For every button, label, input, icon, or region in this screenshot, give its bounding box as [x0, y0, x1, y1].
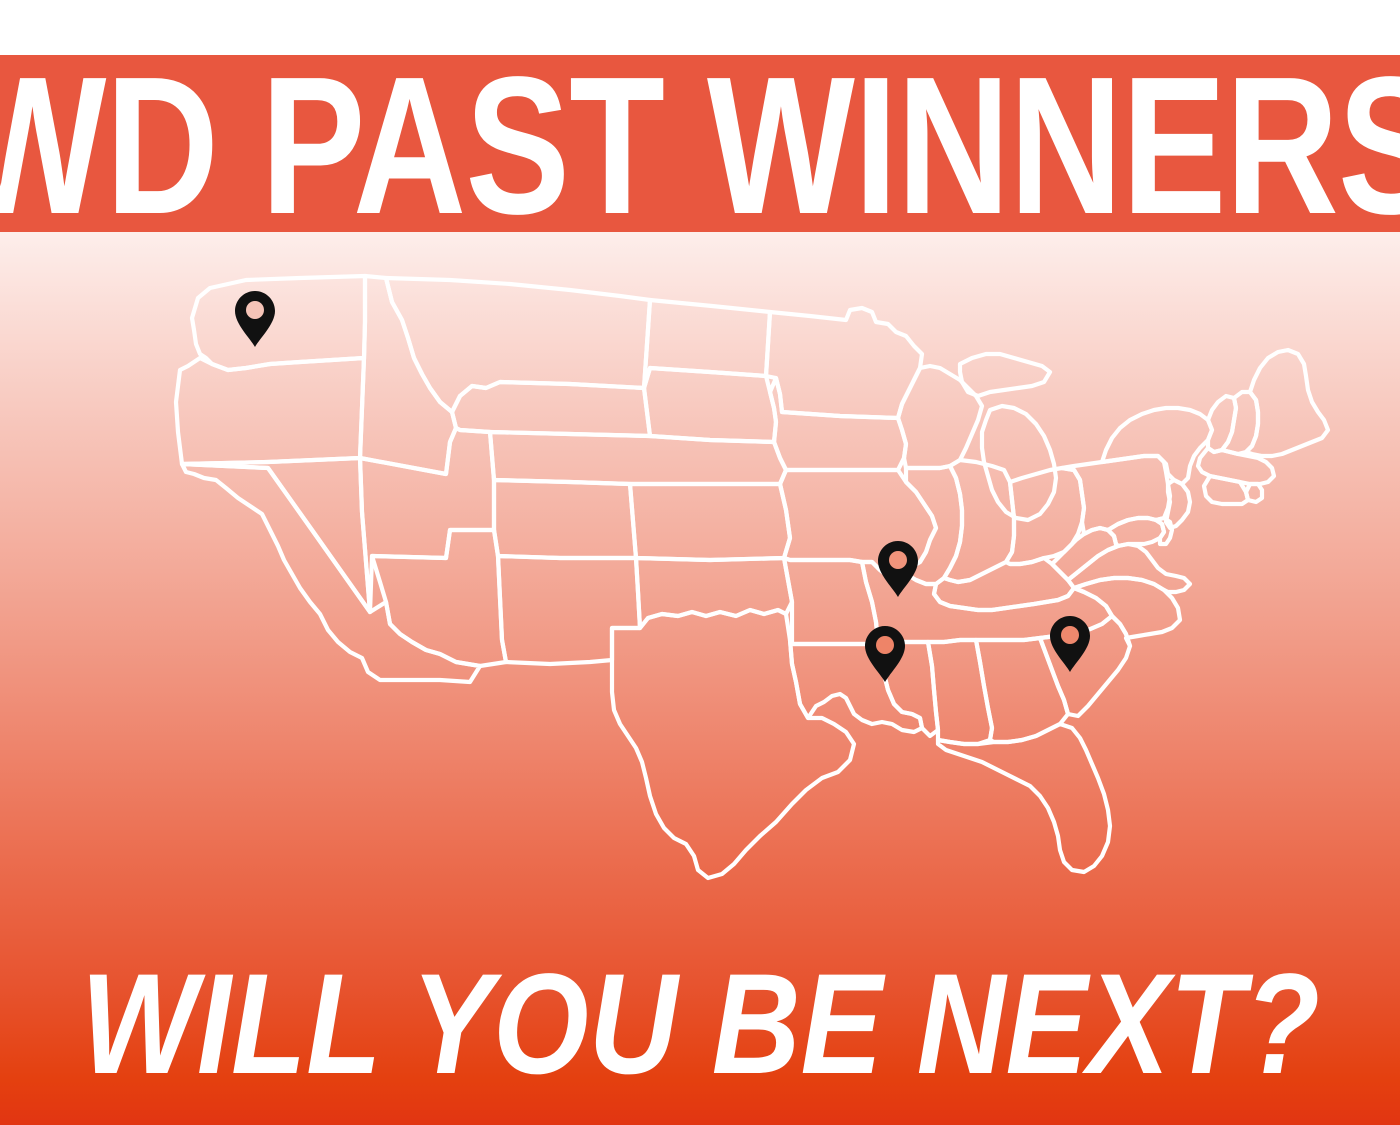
state-maine	[1246, 350, 1328, 456]
state-idaho	[360, 276, 456, 474]
state-arizona	[372, 530, 506, 666]
map-pin-icon	[876, 540, 920, 598]
state-alabama	[928, 640, 992, 744]
footer-headline-container: WILL YOU BE NEXT?	[0, 960, 1400, 1090]
state-california	[182, 464, 480, 682]
state-kansas	[630, 484, 790, 560]
state-new-mexico	[498, 556, 640, 664]
state-washington	[192, 276, 365, 370]
page-title: WD PAST WINNERS	[0, 70, 1400, 223]
state-outlines	[176, 276, 1328, 878]
state-new-york	[1102, 408, 1212, 484]
state-wisconsin	[898, 366, 982, 468]
state-minnesota	[766, 308, 922, 418]
poster-root: WD PAST WINNERS	[0, 0, 1400, 1125]
state-texas	[612, 610, 854, 878]
state-colorado	[494, 480, 636, 558]
pin-washington[interactable]	[233, 290, 277, 348]
united-states-map-svg	[150, 262, 1250, 962]
state-oklahoma	[636, 558, 792, 628]
state-michigan-upper	[960, 354, 1050, 396]
state-iowa	[770, 378, 906, 470]
header-banner: WD PAST WINNERS	[0, 55, 1400, 232]
map-pin-icon	[863, 625, 907, 683]
state-south-dakota	[644, 368, 776, 442]
state-michigan-lower	[982, 406, 1056, 520]
top-white-strip	[0, 0, 1400, 55]
map-pin-icon	[233, 290, 277, 348]
state-ohio	[1006, 468, 1084, 564]
state-oregon	[176, 358, 364, 464]
state-florida	[938, 724, 1110, 872]
pin-indiana[interactable]	[876, 540, 920, 598]
pin-virginia[interactable]	[1048, 615, 1092, 673]
state-pennsylvania	[1062, 456, 1170, 534]
state-wyoming	[452, 382, 650, 436]
state-nebraska	[490, 432, 786, 484]
state-montana	[386, 278, 650, 412]
map-pin-icon	[1048, 615, 1092, 673]
footer-headline: WILL YOU BE NEXT?	[81, 966, 1320, 1083]
pin-tennessee[interactable]	[863, 625, 907, 683]
